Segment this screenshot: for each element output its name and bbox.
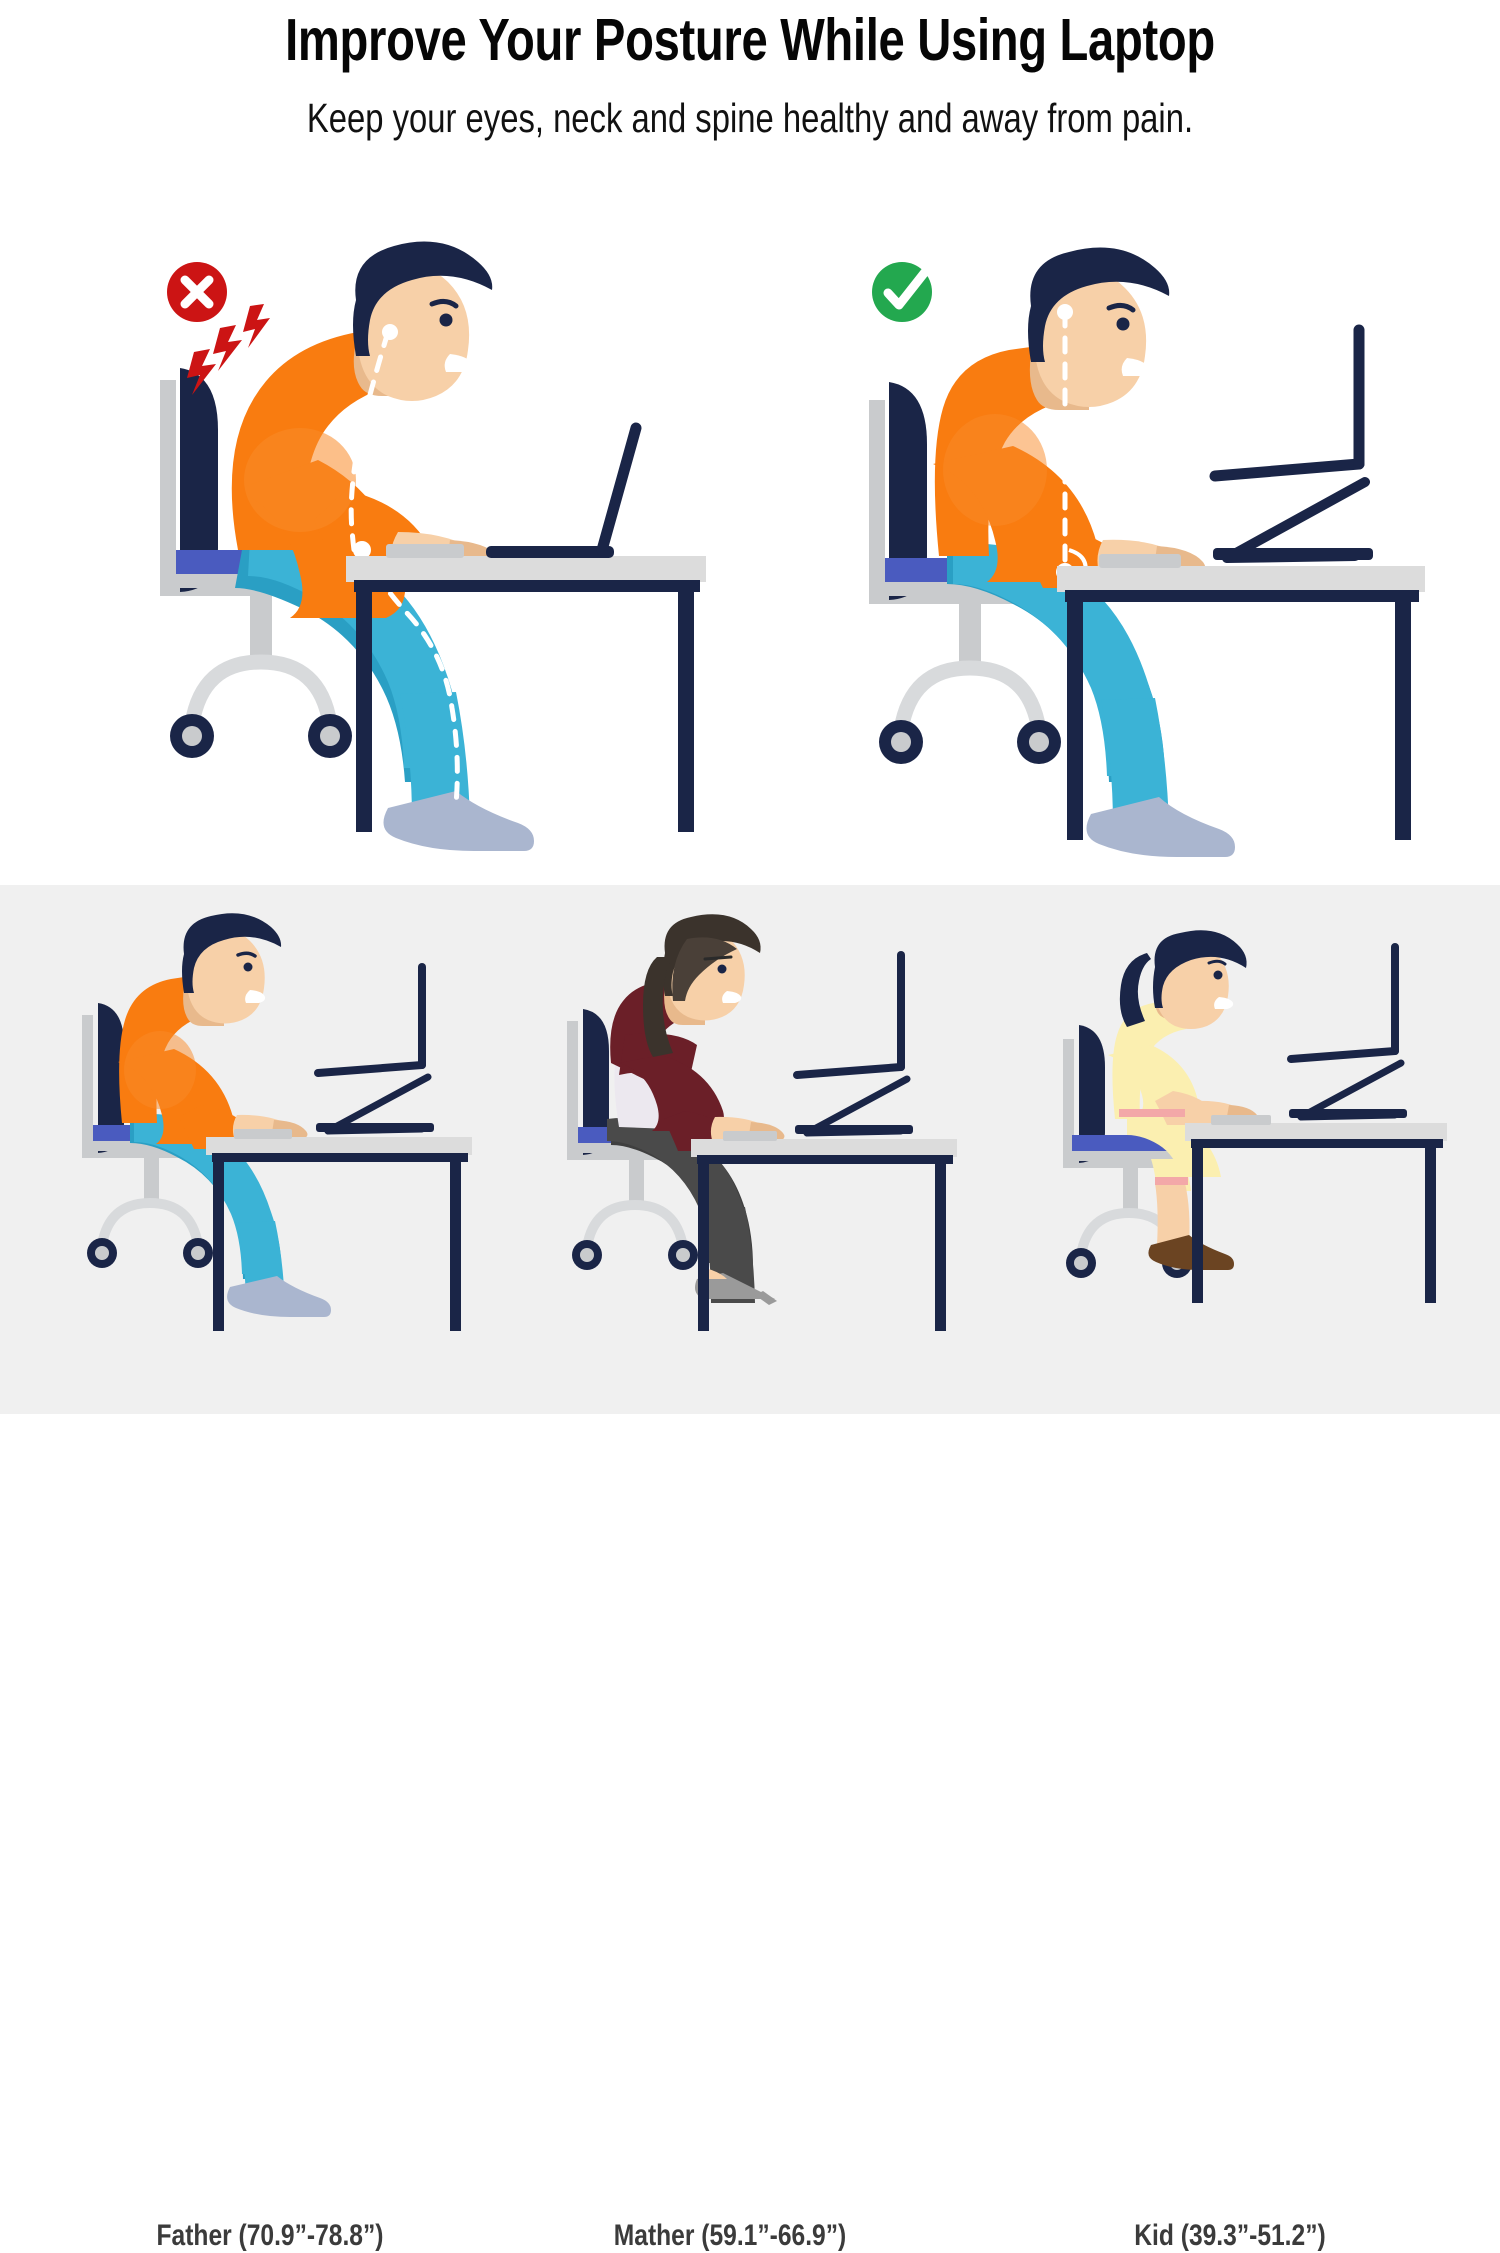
- laptop-stand: [1301, 1063, 1401, 1117]
- keyboard: [234, 1129, 292, 1139]
- shoe: [1087, 797, 1236, 857]
- head: [1120, 930, 1247, 1029]
- comparison-section: [0, 175, 1500, 885]
- head: [643, 914, 761, 1057]
- page-subtitle: Keep your eyes, neck and spine healthy a…: [150, 95, 1350, 142]
- desk: [1185, 1123, 1447, 1303]
- laptop-stand: [328, 1077, 428, 1131]
- shoe: [227, 1276, 331, 1317]
- laptop-stand: [1227, 482, 1365, 558]
- keyboard: [386, 544, 464, 558]
- father-scene: [60, 915, 480, 1305]
- keyboard: [1211, 1115, 1271, 1125]
- page-title: Improve Your Posture While Using Laptop: [150, 6, 1350, 74]
- shoe: [384, 791, 535, 851]
- x-circle-icon: [167, 262, 227, 322]
- head: [182, 913, 281, 1026]
- kid-scene: [1035, 933, 1455, 1308]
- head: [1028, 248, 1169, 410]
- check-circle-icon: [872, 262, 932, 322]
- family-section: Father (70.9”-78.8”): [0, 885, 1500, 1414]
- good-posture-scene: [855, 250, 1425, 850]
- mather-label: Mather (59.1”-66.9”): [558, 2219, 902, 2253]
- infographic-page: Improve Your Posture While Using Laptop …: [0, 0, 1500, 1414]
- bad-posture-scene: [150, 250, 710, 850]
- head: [353, 242, 492, 401]
- laptop-stand: [807, 1079, 907, 1133]
- header: Improve Your Posture While Using Laptop …: [0, 0, 1500, 175]
- keyboard: [1099, 554, 1181, 568]
- spine-joint-marker: [353, 419, 371, 437]
- mather-scene: [545, 915, 965, 1305]
- laptop: [486, 428, 636, 558]
- father-label: Father (70.9”-78.8”): [98, 2219, 442, 2253]
- spine-joint-marker: [1056, 423, 1074, 441]
- keyboard: [723, 1131, 777, 1141]
- kid-label: Kid (39.3”-51.2”): [1058, 2219, 1402, 2253]
